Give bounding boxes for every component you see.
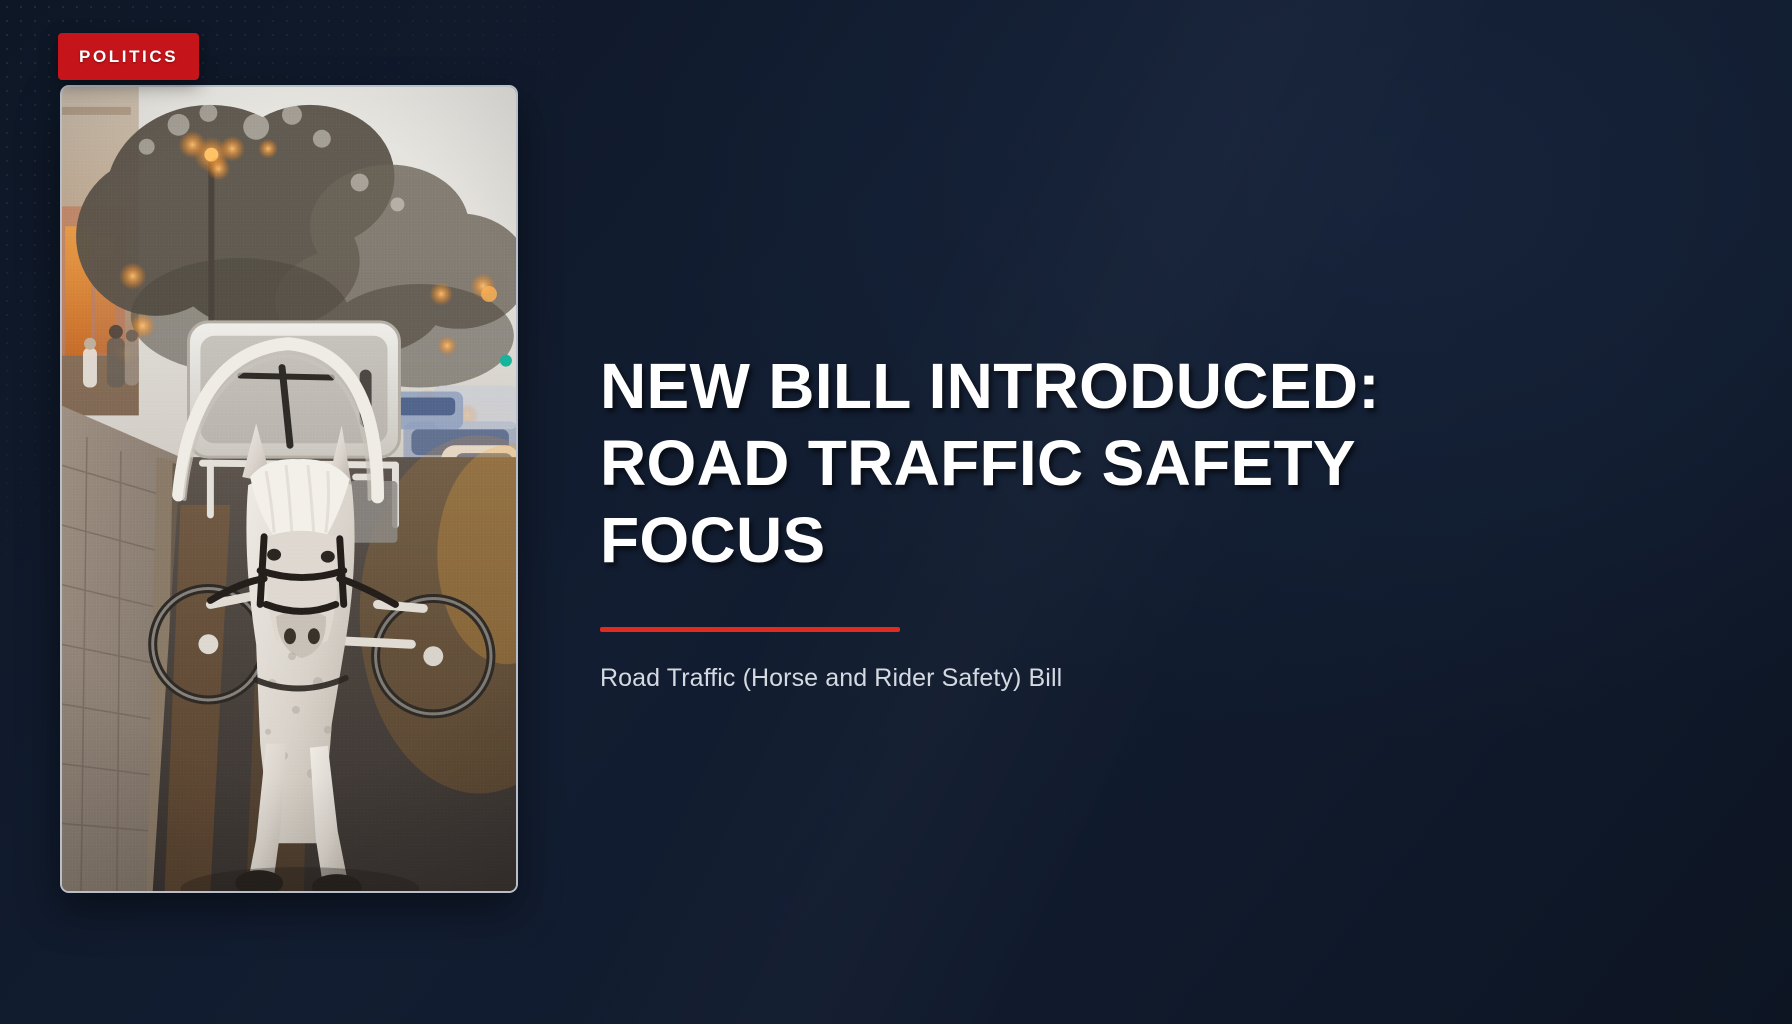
article-photo <box>62 87 516 891</box>
category-badge: POLITICS <box>58 33 199 80</box>
category-badge-label: POLITICS <box>79 47 178 67</box>
article-image-card <box>60 85 518 893</box>
photo-vignette-overlay <box>62 87 516 891</box>
text-content-column: New Bill Introduced: Road Traffic Safety… <box>600 348 1480 695</box>
subtitle: Road Traffic (Horse and Rider Safety) Bi… <box>600 662 1480 695</box>
page-title: New Bill Introduced: Road Traffic Safety… <box>600 348 1440 578</box>
title-divider <box>600 627 900 632</box>
